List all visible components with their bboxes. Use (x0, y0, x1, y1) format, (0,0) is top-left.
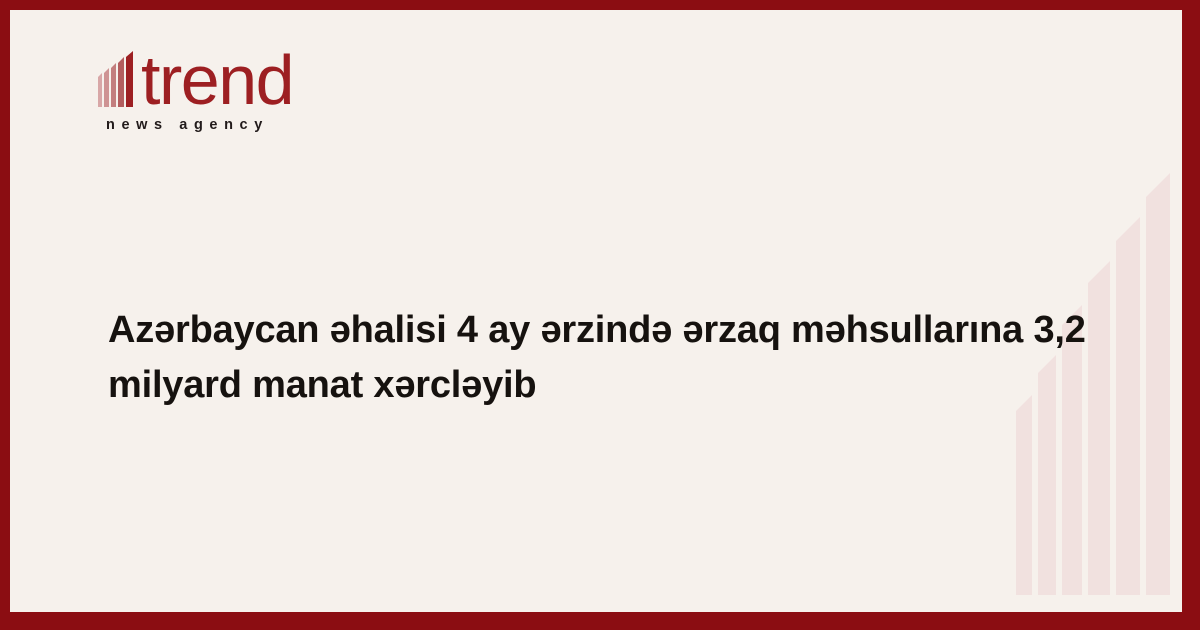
watermark-bar-1 (1016, 395, 1032, 595)
trend-ascending-bars-mark (98, 51, 140, 107)
social-share-card: trend news agency Azərbaycan əhalisi 4 a… (0, 0, 1200, 630)
logo-tagline: news agency (106, 117, 348, 133)
watermark-bar-6 (1146, 173, 1170, 595)
logo-wordmark: trend (141, 52, 293, 108)
card-canvas: trend news agency Azərbaycan əhalisi 4 a… (10, 10, 1182, 612)
trend-news-agency-logo[interactable]: trend news agency (98, 46, 348, 133)
logo-wordmark-row: trend (98, 46, 348, 108)
headline-line-1: Azərbaycan əhalisi 4 ay ərzində ərzaq mə… (108, 303, 1108, 358)
headline: Azərbaycan əhalisi 4 ay ərzində ərzaq mə… (108, 303, 1108, 413)
watermark-bar-5 (1116, 217, 1140, 595)
headline-line-2: milyard manat xərcləyib (108, 358, 1108, 413)
